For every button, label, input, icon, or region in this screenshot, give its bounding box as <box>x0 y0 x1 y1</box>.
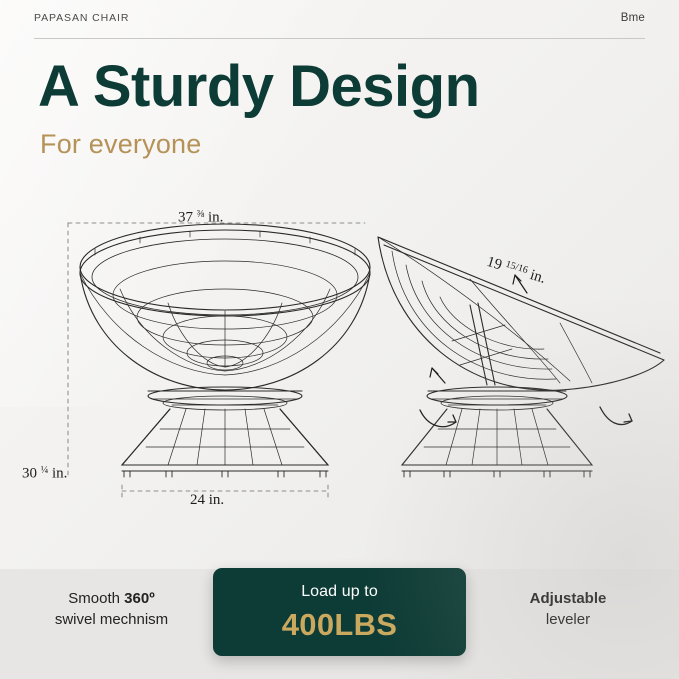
feature-leveler-line1: Adjustable <box>530 590 607 607</box>
product-category-label: PAPASAN CHAIR <box>34 12 129 24</box>
page-title: A Sturdy Design <box>38 54 480 120</box>
load-capacity-badge: Load up to 400LBS <box>213 568 466 656</box>
feature-leveler: Adjustable leveler <box>478 588 658 630</box>
side-depth-arrow <box>430 275 527 383</box>
rotation-arrow-left <box>420 410 456 427</box>
feature-swivel-line2: swivel mechnism <box>55 611 168 628</box>
load-capacity-value: 400LBS <box>213 607 466 643</box>
front-view-group <box>80 224 370 477</box>
header: PAPASAN CHAIR Bme <box>34 12 645 24</box>
feature-swivel-line1: Smooth <box>68 590 124 607</box>
dimension-diagram: 37 ⅜ in. 24 in. 30 ¼ in. 19 15/16 in. <box>0 185 679 535</box>
feature-swivel: Smooth 360º swivel mechnism <box>24 588 199 630</box>
page-subtitle: For everyone <box>40 129 201 160</box>
feature-swivel-degrees: 360º <box>124 590 155 607</box>
feature-leveler-line2: leveler <box>546 611 590 628</box>
poster-canvas: PAPASAN CHAIR Bme A Sturdy Design For ev… <box>0 0 679 679</box>
front-depth-dimension-label: 24 in. <box>190 492 224 509</box>
rotation-arrow-right <box>600 407 632 425</box>
front-width-dimension-label: 37 ⅜ in. <box>178 209 223 227</box>
header-divider <box>34 38 645 39</box>
load-capacity-caption: Load up to <box>213 583 466 601</box>
chair-line-drawing <box>0 185 679 535</box>
brand-label: Bme <box>621 12 645 24</box>
front-height-dimension-label: 30 ¼ in. <box>22 465 67 483</box>
